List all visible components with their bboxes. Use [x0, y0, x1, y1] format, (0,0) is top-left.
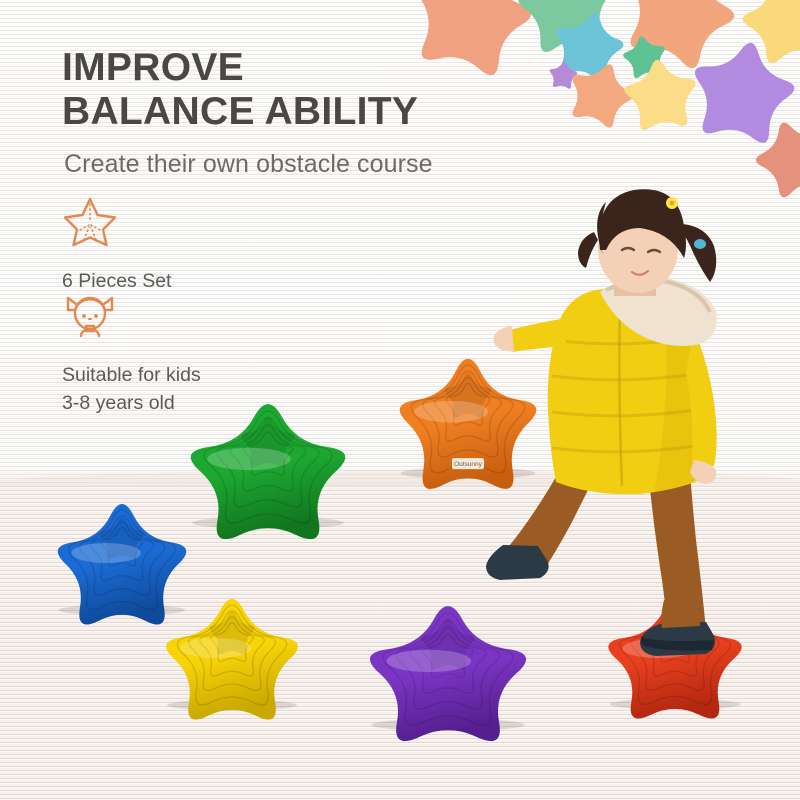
green-stepping-stone [191, 404, 346, 539]
purple-stepping-stone [370, 606, 526, 741]
yellow-stepping-stone [166, 599, 298, 720]
brand-label-text: Outsunny [454, 461, 483, 468]
product-photo: Outsunny [0, 0, 800, 800]
blue-stepping-stone [58, 504, 186, 625]
orange-stepping-stone: Outsunny [400, 359, 537, 489]
product-poster: IMPROVE BALANCE ABILITY Create their own… [0, 0, 800, 800]
